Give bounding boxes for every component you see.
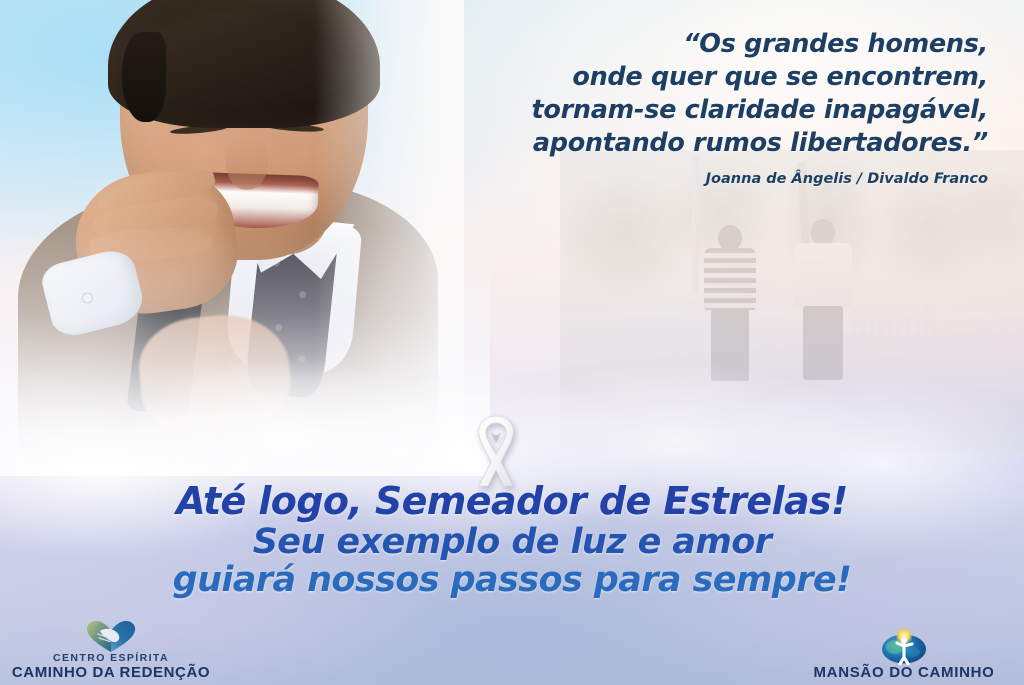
headline-line-3: guiará nossos passos para sempre! bbox=[0, 562, 1024, 598]
portrait-hair bbox=[108, 0, 380, 128]
quote-line-3: tornam-se claridade inapagável, bbox=[388, 94, 988, 127]
logo-right-text: MANSÃO DO CAMINHO bbox=[813, 665, 994, 681]
figure-head bbox=[811, 219, 836, 246]
white-ribbon-icon bbox=[465, 412, 527, 488]
background-figure-striped-shirt bbox=[702, 225, 758, 399]
figure-torso bbox=[704, 248, 756, 310]
background-photo bbox=[560, 150, 1024, 450]
headline-line-2: Seu exemplo de luz e amor bbox=[0, 524, 1024, 560]
background-figure-white-shirt bbox=[792, 219, 854, 399]
globe-figure-icon bbox=[878, 627, 930, 665]
hands-heart-icon bbox=[84, 615, 138, 653]
headline-block: Até logo, Semeador de Estrelas! Seu exem… bbox=[0, 482, 1024, 598]
figure-torso bbox=[794, 243, 852, 307]
logo-centro-espirita[interactable]: CENTRO ESPÍRITA CAMINHO DA REDENÇÃO bbox=[6, 615, 216, 681]
logo-left-line-2: CAMINHO DA REDENÇÃO bbox=[12, 665, 210, 681]
logo-right-line-1: MANSÃO DO CAMINHO bbox=[813, 665, 994, 681]
figure-legs bbox=[803, 306, 843, 380]
portrait-nose bbox=[226, 136, 268, 190]
memorial-poster: “Os grandes homens, onde quer que se enc… bbox=[0, 0, 1024, 685]
logo-mansao-do-caminho[interactable]: MANSÃO DO CAMINHO bbox=[794, 627, 1014, 681]
figure-legs bbox=[711, 309, 749, 381]
headline-line-1: Até logo, Semeador de Estrelas! bbox=[0, 482, 1024, 522]
quote-line-1: “Os grandes homens, bbox=[388, 28, 988, 61]
quote-line-4: apontando rumos libertadores.” bbox=[388, 127, 988, 160]
quote-attribution: Joanna de Ângelis / Divaldo Franco bbox=[388, 171, 988, 187]
logo-left-text: CENTRO ESPÍRITA CAMINHO DA REDENÇÃO bbox=[12, 653, 210, 681]
quote-block: “Os grandes homens, onde quer que se enc… bbox=[388, 28, 988, 187]
quote-line-2: onde quer que se encontrem, bbox=[388, 61, 988, 94]
